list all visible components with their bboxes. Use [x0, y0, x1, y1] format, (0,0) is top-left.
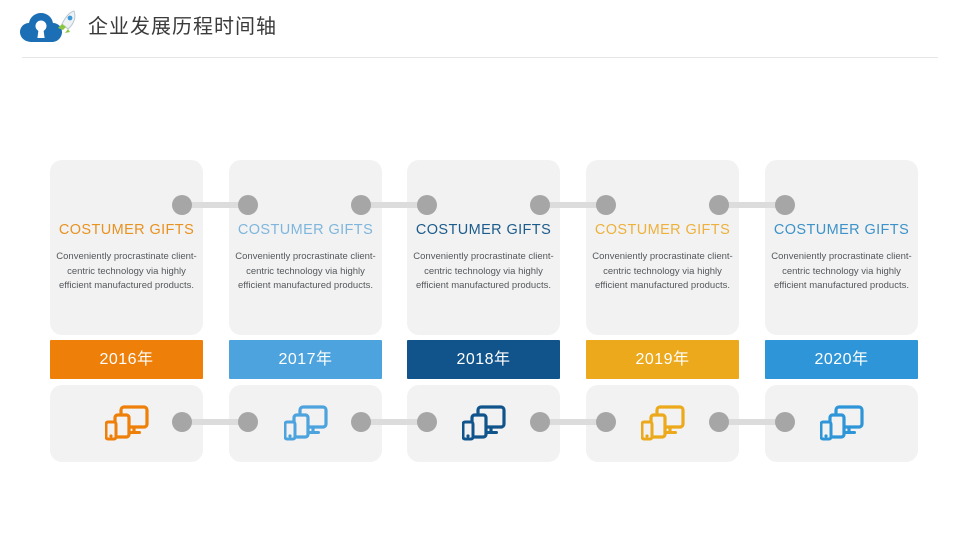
- connector-dot: [238, 195, 258, 215]
- card-body-text: Conveniently procrastinate client-centri…: [413, 250, 554, 294]
- connector-bottom-2-3: [351, 412, 437, 432]
- card-top-panel: COSTUMER GIFTS Conveniently procrastinat…: [50, 160, 203, 335]
- connector-dot: [351, 412, 371, 432]
- connector-dot: [417, 195, 437, 215]
- connector-dot: [417, 412, 437, 432]
- card-year-badge[interactable]: 2020年: [765, 340, 918, 379]
- card-body-text: Conveniently procrastinate client-centri…: [592, 250, 733, 294]
- connector-dot: [172, 412, 192, 432]
- connector-top-3-4: [530, 195, 616, 215]
- connector-dot: [351, 195, 371, 215]
- timeline-board: COSTUMER GIFTS Conveniently procrastinat…: [0, 160, 960, 462]
- card-year-badge[interactable]: 2017年: [229, 340, 382, 379]
- responsive-devices-icon: [105, 405, 149, 443]
- cloud-rocket-logo: [18, 8, 84, 48]
- connector-top-2-3: [351, 195, 437, 215]
- connector-dot: [530, 195, 550, 215]
- page-header: 企业发展历程时间轴: [0, 0, 960, 58]
- connector-top-4-5: [709, 195, 795, 215]
- connector-bottom-3-4: [530, 412, 616, 432]
- card-title: COSTUMER GIFTS: [50, 222, 203, 238]
- card-title: COSTUMER GIFTS: [765, 222, 918, 238]
- card-year-badge[interactable]: 2016年: [50, 340, 203, 379]
- connector-dot: [530, 412, 550, 432]
- connector-dot: [596, 195, 616, 215]
- card-top-panel: COSTUMER GIFTS Conveniently procrastinat…: [407, 160, 560, 335]
- connector-dot: [709, 412, 729, 432]
- card-year-badge[interactable]: 2019年: [586, 340, 739, 379]
- card-body-text: Conveniently procrastinate client-centri…: [235, 250, 376, 294]
- card-top-panel: COSTUMER GIFTS Conveniently procrastinat…: [586, 160, 739, 335]
- card-top-panel: COSTUMER GIFTS Conveniently procrastinat…: [765, 160, 918, 335]
- responsive-devices-icon: [641, 405, 685, 443]
- card-title: COSTUMER GIFTS: [586, 222, 739, 238]
- connector-dot: [172, 195, 192, 215]
- card-year-badge[interactable]: 2018年: [407, 340, 560, 379]
- connector-dot: [775, 412, 795, 432]
- card-body-text: Conveniently procrastinate client-centri…: [771, 250, 912, 294]
- connector-dot: [709, 195, 729, 215]
- card-top-panel: COSTUMER GIFTS Conveniently procrastinat…: [229, 160, 382, 335]
- connector-dot: [238, 412, 258, 432]
- card-title: COSTUMER GIFTS: [407, 222, 560, 238]
- connector-top-1-2: [172, 195, 258, 215]
- connector-bottom-4-5: [709, 412, 795, 432]
- responsive-devices-icon: [820, 405, 864, 443]
- card-title: COSTUMER GIFTS: [229, 222, 382, 238]
- card-body-text: Conveniently procrastinate client-centri…: [56, 250, 197, 294]
- responsive-devices-icon: [462, 405, 506, 443]
- responsive-devices-icon: [284, 405, 328, 443]
- connector-bottom-1-2: [172, 412, 258, 432]
- header-divider: [22, 57, 938, 58]
- connector-dot: [775, 195, 795, 215]
- page-title: 企业发展历程时间轴: [88, 13, 277, 41]
- connector-dot: [596, 412, 616, 432]
